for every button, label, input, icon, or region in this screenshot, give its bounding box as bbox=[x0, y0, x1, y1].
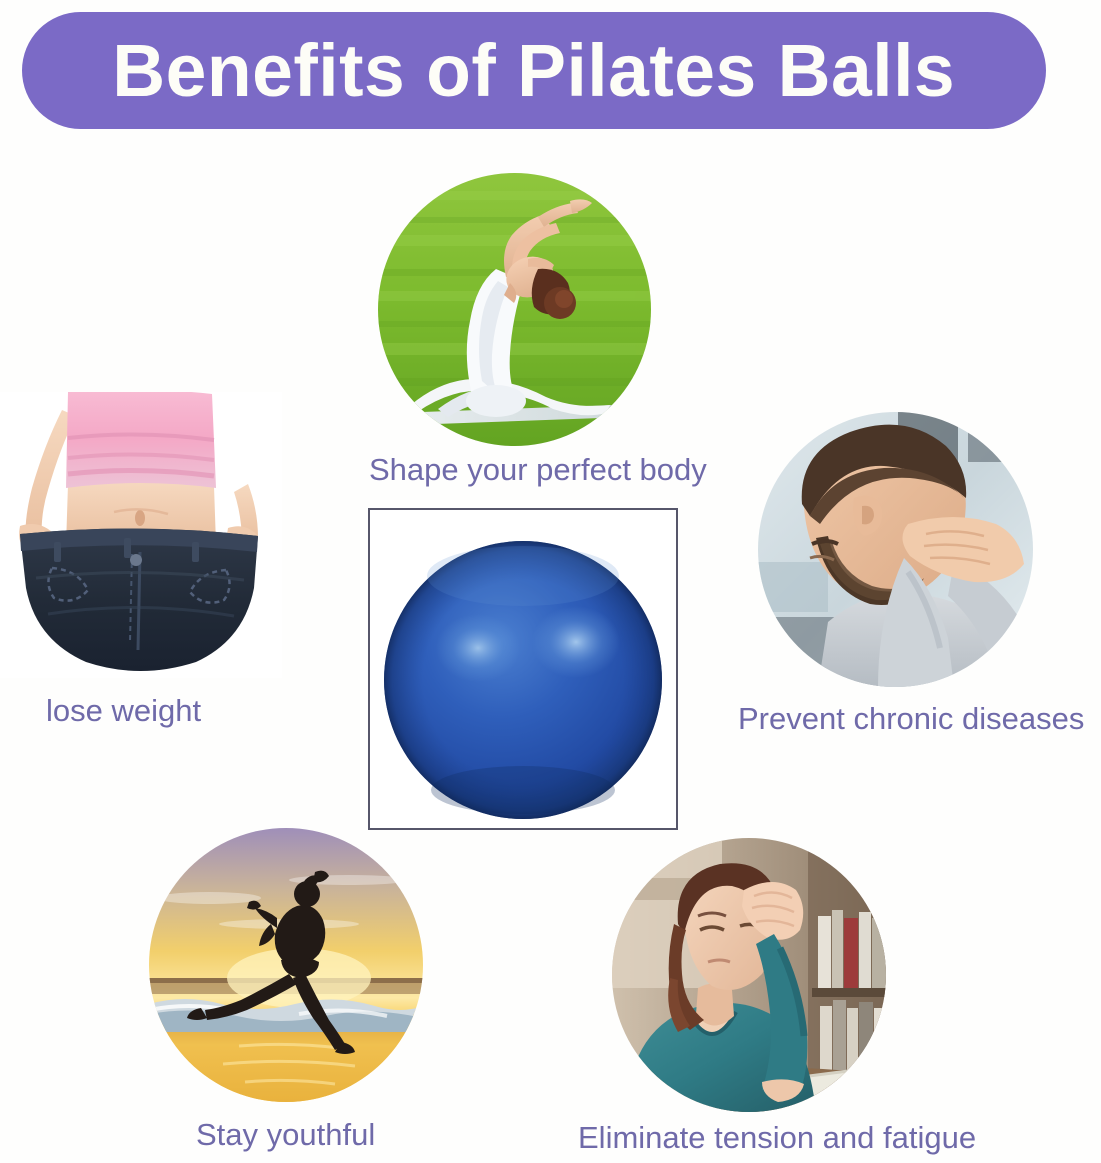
caption-lose-weight: lose weight bbox=[46, 695, 201, 726]
blue-pilates-ball-photo bbox=[370, 510, 676, 828]
weight-loss-oversized-jeans-photo bbox=[0, 392, 282, 678]
beach-sunset-jump-photo bbox=[149, 828, 423, 1102]
caption-stay-youthful: Stay youthful bbox=[196, 1119, 375, 1150]
header-banner: Benefits of Pilates Balls bbox=[22, 12, 1046, 129]
caption-eliminate-tension-and-fatigue: Eliminate tension and fatigue bbox=[578, 1122, 976, 1153]
page-title: Benefits of Pilates Balls bbox=[113, 34, 956, 108]
caption-shape-your-perfect-body: Shape your perfect body bbox=[369, 454, 707, 485]
caption-prevent-chronic-diseases: Prevent chronic diseases bbox=[738, 703, 1084, 734]
neck-pain-man-photo bbox=[758, 412, 1033, 687]
tired-woman-desk-photo bbox=[612, 838, 886, 1112]
product-frame bbox=[368, 508, 678, 830]
yoga-on-grass-photo bbox=[378, 173, 651, 446]
infographic-root: Benefits of Pilates Balls bbox=[0, 0, 1101, 1163]
